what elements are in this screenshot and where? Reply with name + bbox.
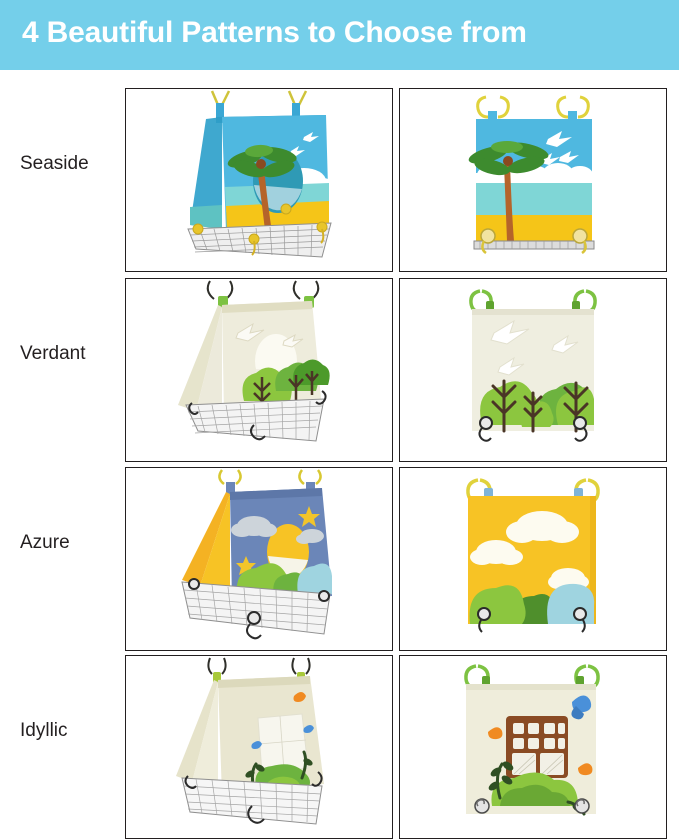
azure-tent-illustration bbox=[126, 468, 392, 650]
idyllic-tent-illustration bbox=[126, 656, 392, 838]
azure-flat-cell[interactable] bbox=[399, 467, 667, 651]
azure-tent-cell[interactable] bbox=[125, 467, 393, 651]
page-title: 4 Beautiful Patterns to Choose from bbox=[22, 16, 527, 50]
seaside-tent-illustration bbox=[126, 89, 392, 271]
verdant-tent-cell[interactable] bbox=[125, 278, 393, 462]
idyllic-flat-illustration bbox=[400, 656, 666, 838]
idyllic-tent-cell[interactable] bbox=[125, 655, 393, 839]
seaside-flat-illustration bbox=[400, 89, 666, 271]
verdant-flat-cell[interactable] bbox=[399, 278, 667, 462]
row-label-verdant: Verdant bbox=[20, 343, 86, 365]
header-banner: 4 Beautiful Patterns to Choose from bbox=[0, 0, 679, 70]
row-label-seaside: Seaside bbox=[20, 153, 89, 175]
row-label-idyllic: Idyllic bbox=[20, 720, 68, 742]
verdant-tent-illustration bbox=[126, 279, 392, 461]
verdant-flat-illustration bbox=[400, 279, 666, 461]
azure-flat-illustration bbox=[400, 468, 666, 650]
seaside-flat-cell[interactable] bbox=[399, 88, 667, 272]
idyllic-flat-cell[interactable] bbox=[399, 655, 667, 839]
table-row: Verdant bbox=[0, 260, 679, 448]
table-row: Seaside bbox=[0, 70, 679, 258]
table-row: Idyllic bbox=[0, 637, 679, 825]
table-row: Azure bbox=[0, 449, 679, 637]
pattern-comparison-grid: Seaside bbox=[0, 70, 679, 835]
seaside-tent-cell[interactable] bbox=[125, 88, 393, 272]
row-label-azure: Azure bbox=[20, 532, 70, 554]
